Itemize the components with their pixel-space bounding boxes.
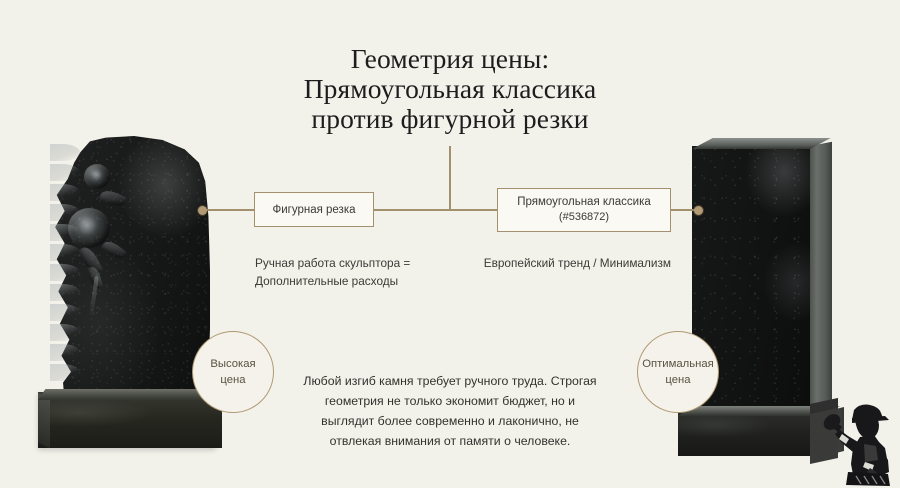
badge-optimal-price: Оптимальная цена bbox=[637, 331, 719, 413]
badge-high-price-line1: Высокая bbox=[210, 356, 255, 372]
badge-optimal-price-line1: Оптимальная bbox=[642, 356, 714, 372]
badge-high-price-line2: цена bbox=[220, 372, 245, 388]
label-box-figured-text: Фигурная резка bbox=[272, 204, 355, 216]
slab-side-face bbox=[810, 142, 832, 408]
rose-small-icon bbox=[84, 164, 110, 189]
leaf-icon bbox=[101, 238, 127, 262]
poster-canvas: Геометрия цены: Прямоугольная классика п… bbox=[0, 0, 900, 488]
title-line-1: Геометрия цены: bbox=[0, 44, 900, 74]
monument-base-left bbox=[38, 392, 216, 448]
slab-top-face bbox=[692, 138, 831, 149]
label-box-classic[interactable]: Прямоугольная классика (#536872) bbox=[497, 188, 671, 232]
caption-figured: Ручная работа скульптора = Дополнительны… bbox=[255, 255, 485, 290]
page-title: Геометрия цены: Прямоугольная классика п… bbox=[0, 44, 900, 134]
stonemason-logo bbox=[808, 392, 894, 486]
badge-high-price: Высокая цена bbox=[192, 331, 274, 413]
rose-carving bbox=[62, 158, 128, 276]
monument-figured bbox=[32, 136, 222, 448]
connector-dot-left bbox=[198, 206, 207, 215]
title-line-2: Прямоугольная классика bbox=[0, 74, 900, 104]
caption-classic: Европейский тренд / Минимализм bbox=[455, 255, 671, 273]
badge-optimal-price-line2: цена bbox=[665, 372, 690, 388]
leaf-icon bbox=[98, 187, 127, 209]
label-box-classic-code: (#536872) bbox=[559, 210, 609, 225]
monument-base-right bbox=[678, 412, 824, 456]
label-box-figured[interactable]: Фигурная резка bbox=[254, 192, 374, 227]
title-line-3: против фигурной резки bbox=[0, 104, 900, 134]
connector-dot-right bbox=[694, 206, 703, 215]
connector-line-vertical bbox=[449, 146, 451, 210]
body-paragraph: Любой изгиб камня требует ручного труда.… bbox=[300, 371, 600, 451]
label-box-classic-text: Прямоугольная классика bbox=[517, 195, 651, 210]
